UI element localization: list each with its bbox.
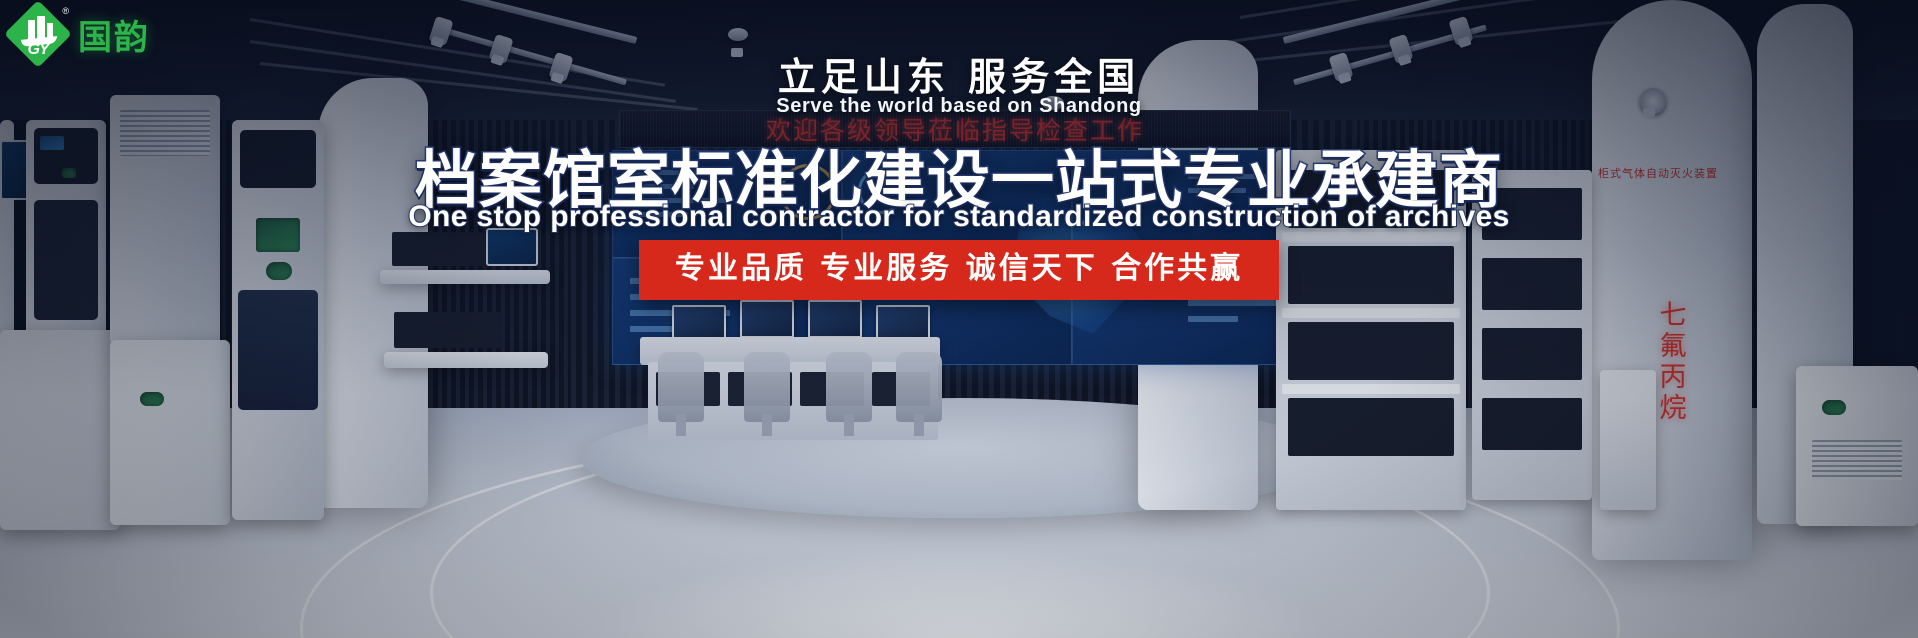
hero-cta-row: 专业品质 专业服务 诚信天下 合作共赢 <box>0 240 1918 300</box>
hero-headline-en: One stop professional contractor for sta… <box>0 200 1918 234</box>
hero-cta-button[interactable]: 专业品质 专业服务 诚信天下 合作共赢 <box>639 240 1279 300</box>
logo-building-bar <box>28 20 35 40</box>
hero-banner: 欢迎各级领导莅临指导检查工作 七氟丙烷 柜式气体自动灭火装置 <box>0 0 1918 638</box>
logo-building-bar <box>37 16 45 40</box>
hero-kicker-en: Serve the world based on Shandong <box>0 95 1918 118</box>
registered-mark: ® <box>62 6 69 16</box>
hero-overlay: GY ® 国韵 立足山东 服务全国 Serve the world based … <box>0 0 1918 638</box>
hero-kicker-cn: 立足山东 服务全国 <box>0 46 1918 101</box>
